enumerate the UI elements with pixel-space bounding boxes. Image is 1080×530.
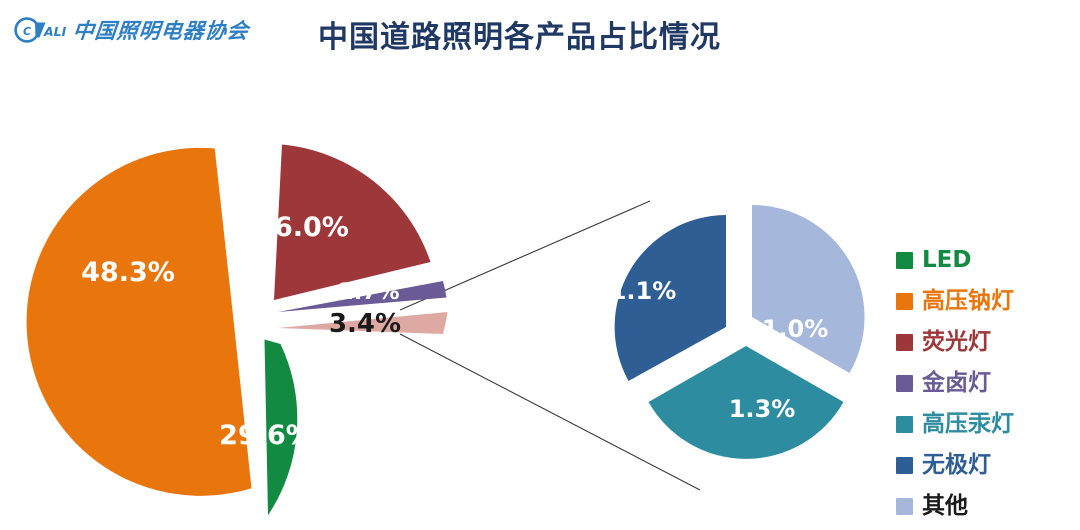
legend-label-fluorescent: 荧光灯 xyxy=(922,331,991,354)
pie-chart: 48.3% 29.6% 16.0% 2.7% 3.4% 1.0% 1.3% 1.… xyxy=(0,72,1080,530)
association-logo: C ALI 中国照明电器协会 xyxy=(14,10,249,50)
legend-label-led: LED xyxy=(922,249,971,272)
legend-item-metal-halide[interactable]: 金卤灯 xyxy=(896,363,1076,404)
legend-item-high-pressure-mercury[interactable]: 高压汞灯 xyxy=(896,404,1076,445)
legend-swatch-icon-electrodeless xyxy=(896,457,913,474)
legend-swatch-icon-metal-halide xyxy=(896,375,913,392)
legend-item-fluorescent[interactable]: 荧光灯 xyxy=(896,322,1076,363)
main-pie-group: 48.3% 29.6% 16.0% 2.7% 3.4% xyxy=(27,145,448,516)
legend-label-electrodeless: 无极灯 xyxy=(922,454,991,477)
chart-legend: LED 高压钠灯 荧光灯 金卤灯 高压汞灯 无极灯 xyxy=(896,240,1076,527)
slice-label-electrodeless: 1.1% xyxy=(610,277,677,305)
legend-swatch-icon-high-pressure-mercury xyxy=(896,416,913,433)
slice-high-pressure-sodium[interactable] xyxy=(27,148,252,496)
slice-label-high-pressure-sodium: 48.3% xyxy=(81,257,175,288)
slice-label-metal-halide: 2.7% xyxy=(338,280,399,305)
legend-item-electrodeless[interactable]: 无极灯 xyxy=(896,445,1076,486)
secondary-pie-group: 1.0% 1.3% 1.1% xyxy=(610,205,865,459)
slice-label-other-group: 3.4% xyxy=(329,309,401,339)
slice-label-fluorescent: 16.0% xyxy=(255,212,349,243)
legend-label-high-pressure-sodium: 高压钠灯 xyxy=(922,290,1014,313)
legend-label-other: 其他 xyxy=(922,495,968,518)
page-header: C ALI 中国照明电器协会 中国道路照明各产品占比情况 xyxy=(0,0,1080,72)
svg-text:C: C xyxy=(23,25,31,38)
page-title: 中国道路照明各产品占比情况 xyxy=(318,12,721,56)
slice-label-led: 29.6% xyxy=(219,420,313,451)
slice-label-high-pressure-mercury: 1.3% xyxy=(729,395,796,423)
legend-item-led[interactable]: LED xyxy=(896,240,1076,281)
legend-item-high-pressure-sodium[interactable]: 高压钠灯 xyxy=(896,281,1076,322)
cali-logo-icon: C ALI xyxy=(14,16,66,44)
legend-label-metal-halide: 金卤灯 xyxy=(922,372,991,395)
legend-label-high-pressure-mercury: 高压汞灯 xyxy=(922,413,1014,436)
svg-text:ALI: ALI xyxy=(43,24,66,39)
legend-swatch-icon-fluorescent xyxy=(896,334,913,351)
legend-swatch-icon-led xyxy=(896,252,913,269)
chart-page: C ALI 中国照明电器协会 中国道路照明各产品占比情况 xyxy=(0,0,1080,530)
legend-swatch-icon-high-pressure-sodium xyxy=(896,293,913,310)
legend-item-other[interactable]: 其他 xyxy=(896,486,1076,527)
legend-swatch-icon-other xyxy=(896,498,913,515)
slice-label-other: 1.0% xyxy=(762,315,829,343)
association-name: 中国照明电器协会 xyxy=(71,15,250,45)
slice-other[interactable] xyxy=(752,205,865,373)
